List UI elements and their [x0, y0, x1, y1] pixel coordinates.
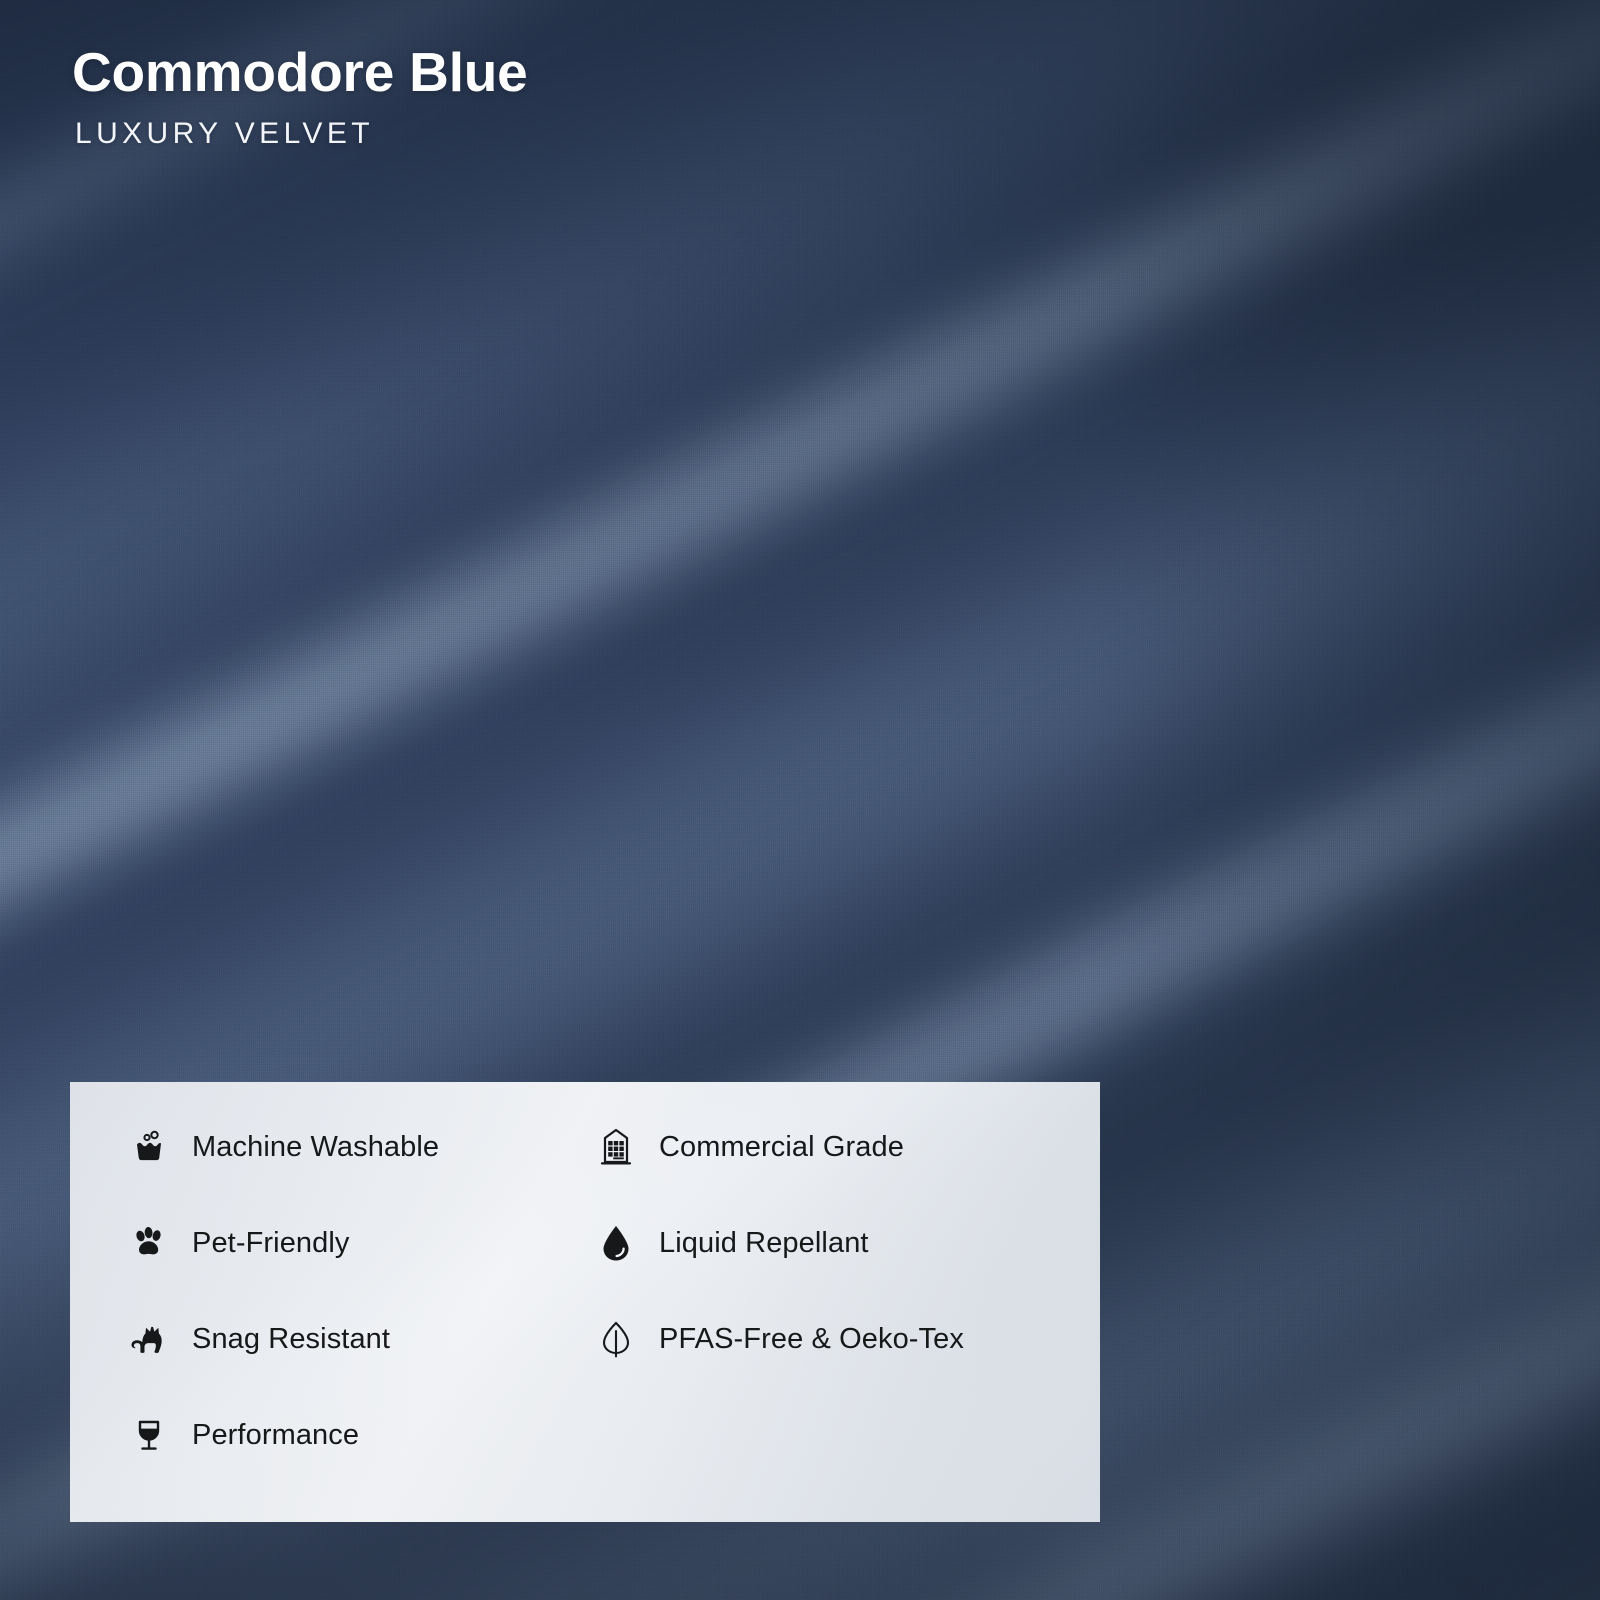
- water-droplet-icon: [589, 1216, 643, 1270]
- page-title: Commodore Blue: [72, 44, 528, 102]
- wine-glass-icon: [122, 1408, 176, 1462]
- feature-liquid-repellant: Liquid Repellant: [589, 1216, 869, 1270]
- feature-label: Commercial Grade: [659, 1131, 904, 1164]
- feature-label: Performance: [192, 1419, 359, 1452]
- feature-pfas-free-oeko-tex: PFAS-Free & Oeko-Tex: [589, 1312, 964, 1366]
- feature-label: Machine Washable: [192, 1131, 439, 1164]
- building-icon: [589, 1120, 643, 1174]
- paw-print-icon: [122, 1216, 176, 1270]
- feature-pet-friendly: Pet-Friendly: [122, 1216, 350, 1270]
- feature-panel: Machine Washable Pet-Friendly: [70, 1082, 1100, 1522]
- leaf-icon: [589, 1312, 643, 1366]
- cat-icon: [122, 1312, 176, 1366]
- feature-grid: Machine Washable Pet-Friendly: [70, 1082, 1100, 1522]
- feature-label: Liquid Repellant: [659, 1227, 869, 1260]
- swatch-header: Commodore Blue LUXURY VELVET: [72, 44, 528, 149]
- feature-performance: Performance: [122, 1408, 359, 1462]
- feature-label: Snag Resistant: [192, 1323, 390, 1356]
- feature-machine-washable: Machine Washable: [122, 1120, 439, 1174]
- page-subtitle: LUXURY VELVET: [75, 119, 528, 149]
- feature-commercial-grade: Commercial Grade: [589, 1120, 904, 1174]
- wash-basin-icon: [122, 1120, 176, 1174]
- fabric-swatch-card: Commodore Blue LUXURY VELVET Machine Was…: [0, 0, 1600, 1600]
- feature-label: Pet-Friendly: [192, 1227, 350, 1260]
- feature-snag-resistant: Snag Resistant: [122, 1312, 390, 1366]
- feature-label: PFAS-Free & Oeko-Tex: [659, 1323, 964, 1356]
